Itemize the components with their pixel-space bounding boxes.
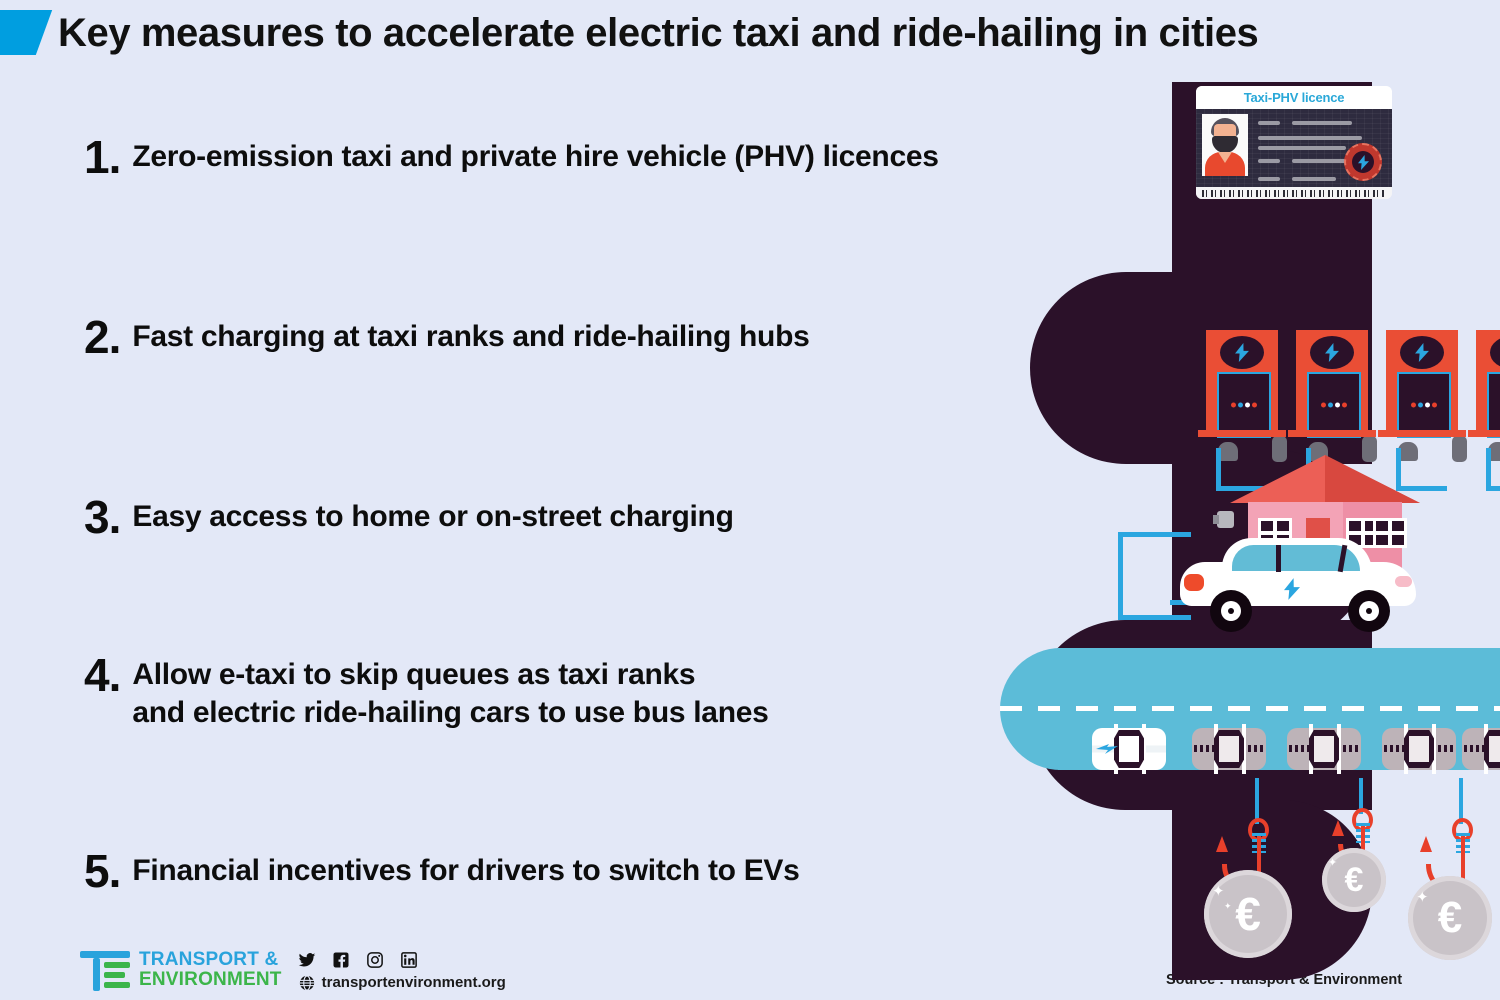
electric-car-icon [1180, 538, 1416, 634]
licence-card-body [1196, 109, 1392, 187]
licence-card-header: Taxi-PHV licence [1196, 86, 1392, 109]
lightning-bolt-icon [1490, 336, 1500, 369]
queued-car-top-view [1382, 728, 1456, 770]
list-item: 4. Allow e-taxi to skip queues as taxi r… [84, 656, 769, 732]
wall-outlet-icon [1217, 511, 1234, 528]
item-number: 1. [84, 138, 120, 176]
facebook-icon[interactable] [332, 951, 350, 969]
footer-branding: TRANSPORT & ENVIRONMENT [80, 948, 506, 992]
item-text-line1: Allow e-taxi to skip queues as taxi rank… [132, 656, 768, 694]
euro-coin: € ✦ [1408, 876, 1492, 960]
transport-environment-logo-icon [80, 948, 130, 992]
euro-coin: € ✦ [1322, 848, 1386, 912]
instagram-icon[interactable] [366, 951, 384, 969]
charging-station [1206, 330, 1278, 430]
item-number: 2. [84, 318, 120, 356]
charging-station [1386, 330, 1458, 430]
euro-symbol: € [1235, 887, 1261, 941]
taxi-phv-licence-card: Taxi-PHV licence [1196, 86, 1392, 199]
item-number: 3. [84, 498, 120, 536]
queued-car-top-view [1287, 728, 1361, 770]
queued-car-top-view [1192, 728, 1266, 770]
euro-coin: € ✦ ✦ [1204, 870, 1292, 958]
measures-list: 1. Zero-emission taxi and private hire v… [0, 0, 1060, 1000]
lightning-bolt-icon [1220, 336, 1264, 369]
logo-line-1: TRANSPORT & [139, 950, 282, 970]
head-light [1395, 576, 1412, 587]
globe-icon [298, 974, 316, 992]
licence-card-title: Taxi-PHV licence [1244, 90, 1345, 105]
lane-divider-dashes [1000, 706, 1500, 711]
charging-cable [1118, 532, 1191, 620]
website-url[interactable]: transportenvironment.org [322, 974, 506, 991]
social-links: transportenvironment.org [298, 949, 506, 992]
e-taxi-top-view [1092, 728, 1166, 770]
licence-seal-icon [1344, 143, 1382, 181]
item-text-line2: and electric ride-hailing cars to use bu… [132, 694, 768, 732]
euro-symbol: € [1345, 861, 1364, 900]
infographic-canvas: Key measures to accelerate electric taxi… [0, 0, 1500, 1000]
item-text: Zero-emission taxi and private hire vehi… [132, 138, 938, 176]
lightning-bolt-icon [1284, 578, 1300, 600]
twitter-icon[interactable] [298, 951, 316, 969]
lightning-bolt-icon [1400, 336, 1444, 369]
car-wheel [1348, 590, 1390, 632]
item-text: Easy access to home or on-street chargin… [132, 498, 733, 536]
list-item: 3. Easy access to home or on-street char… [84, 498, 734, 536]
queued-car-top-view [1462, 728, 1500, 770]
list-item: 5. Financial incentives for drivers to s… [84, 852, 800, 890]
driver-portrait-icon [1202, 114, 1248, 176]
item-number: 4. [84, 656, 120, 694]
list-item: 2. Fast charging at taxi ranks and ride-… [84, 318, 809, 356]
illustration-column: Taxi-PHV licence [1000, 60, 1500, 980]
item-number: 5. [84, 852, 120, 890]
lightning-bolt-icon [1096, 742, 1118, 756]
euro-symbol: € [1438, 893, 1462, 943]
charging-station [1476, 330, 1500, 430]
item-text: Fast charging at taxi ranks and ride-hai… [132, 318, 809, 356]
list-item: 1. Zero-emission taxi and private hire v… [84, 138, 939, 176]
car-wheel [1210, 590, 1252, 632]
charging-station [1296, 330, 1368, 430]
lightning-bolt-icon [1310, 336, 1354, 369]
logo-line-2: ENVIRONMENT [139, 970, 282, 990]
logo-wordmark: TRANSPORT & ENVIRONMENT [139, 950, 282, 990]
item-text: Financial incentives for drivers to swit… [132, 852, 799, 890]
item-text: Allow e-taxi to skip queues as taxi rank… [132, 656, 768, 732]
linkedin-icon[interactable] [400, 951, 418, 969]
tail-light [1184, 574, 1204, 591]
